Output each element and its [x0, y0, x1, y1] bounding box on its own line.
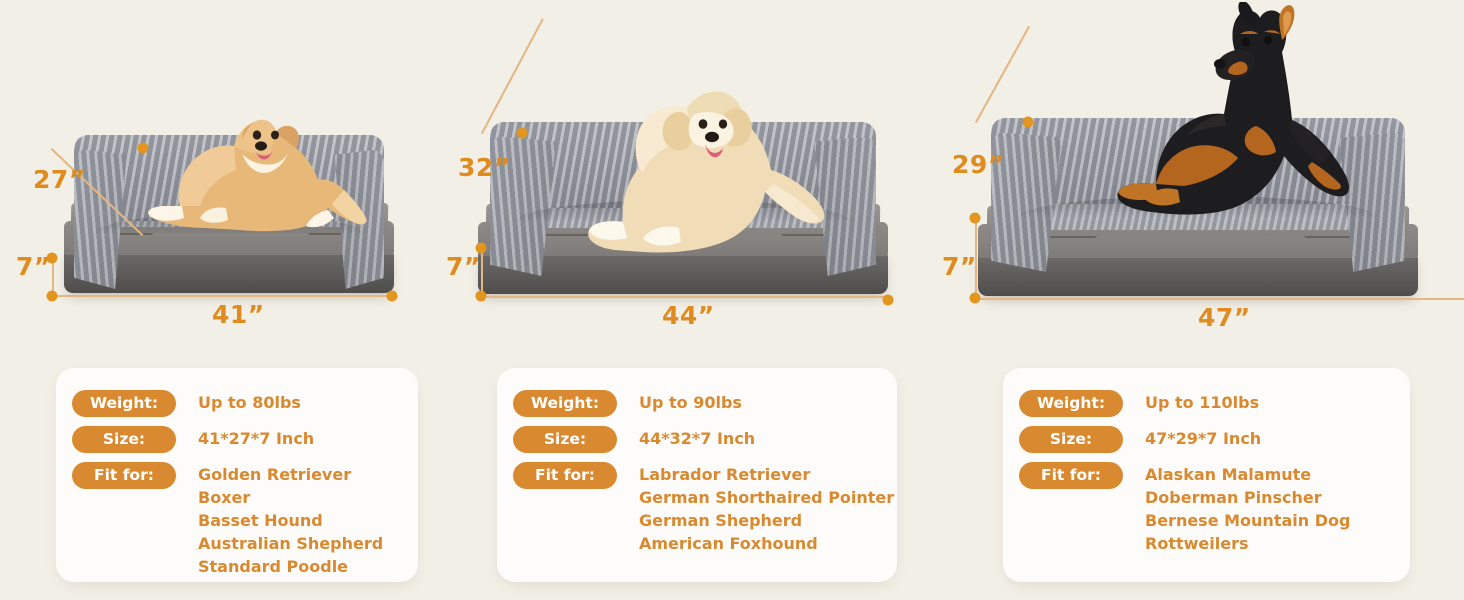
spec-row-size: Size: 41*27*7 Inch — [72, 426, 402, 453]
fitfor-pill-label: Fit for: — [513, 462, 617, 489]
guide-horizontal-width-large — [975, 298, 1464, 300]
breed-item: Standard Poodle — [198, 555, 383, 578]
dimension-height-medium: 32” — [458, 153, 511, 182]
guide-vertical-depth-medium — [481, 248, 483, 296]
size-chart-stage: 27” 7” 41” — [0, 0, 1464, 600]
dimension-depth-small: 7” — [16, 252, 51, 281]
dimension-depth-large: 7” — [942, 252, 977, 281]
guide-dot-top-small — [138, 143, 149, 154]
breed-list: Golden Retriever Boxer Basset Hound Aust… — [198, 462, 383, 578]
spec-row-fitfor: Fit for: Labrador Retriever German Short… — [513, 462, 881, 555]
guide-dot-right-medium — [883, 295, 894, 306]
size-value: 41*27*7 Inch — [198, 426, 314, 448]
guide-dot-bottom-small — [47, 291, 58, 302]
dimension-width-large: 47” — [1198, 303, 1251, 332]
spec-row-weight: Weight: Up to 80lbs — [72, 390, 402, 417]
guide-diagonal-height-large — [975, 26, 1030, 123]
spec-row-size: Size: 44*32*7 Inch — [513, 426, 881, 453]
weight-value: Up to 80lbs — [198, 390, 301, 412]
spec-row-weight: Weight: Up to 90lbs — [513, 390, 881, 417]
breed-item: German Shepherd — [639, 509, 894, 532]
spec-row-fitfor: Fit for: Alaskan Malamute Doberman Pinsc… — [1019, 462, 1394, 555]
spec-card-medium: Weight: Up to 90lbs Size: 44*32*7 Inch F… — [497, 368, 897, 582]
breed-item: Australian Shepherd — [198, 532, 383, 555]
guide-dot-top-large — [1023, 117, 1034, 128]
breed-item: Labrador Retriever — [639, 463, 894, 486]
guide-dot-bottom-large — [970, 293, 981, 304]
guide-horizontal-width-small — [52, 295, 393, 297]
guide-dot-bottom-medium — [476, 291, 487, 302]
dimension-height-small: 27” — [33, 165, 86, 194]
spec-row-weight: Weight: Up to 110lbs — [1019, 390, 1394, 417]
guide-dot-right-small — [387, 291, 398, 302]
dimension-depth-medium: 7” — [446, 252, 481, 281]
weight-pill-label: Weight: — [513, 390, 617, 417]
dimension-width-medium: 44” — [662, 301, 715, 330]
spec-card-small: Weight: Up to 80lbs Size: 41*27*7 Inch F… — [56, 368, 418, 582]
breed-list: Labrador Retriever German Shorthaired Po… — [639, 462, 894, 555]
product-group-large: 29” 7” 47” — [940, 0, 1464, 340]
spec-row-fitfor: Fit for: Golden Retriever Boxer Basset H… — [72, 462, 402, 578]
fitfor-pill-label: Fit for: — [1019, 462, 1123, 489]
breed-item: Golden Retriever — [198, 463, 383, 486]
product-group-medium: 32” 7” 44” — [440, 0, 940, 340]
guide-dot-top-medium — [517, 128, 528, 139]
weight-value: Up to 90lbs — [639, 390, 742, 412]
product-group-small: 27” 7” 41” — [0, 0, 470, 340]
size-value: 44*32*7 Inch — [639, 426, 755, 448]
breed-item: Basset Hound — [198, 509, 383, 532]
breed-item: Rottweilers — [1145, 532, 1350, 555]
breed-item: Doberman Pinscher — [1145, 486, 1350, 509]
guide-dot-mid-large — [970, 213, 981, 224]
size-pill-label: Size: — [72, 426, 176, 453]
spec-card-large: Weight: Up to 110lbs Size: 47*29*7 Inch … — [1003, 368, 1410, 582]
dog-photo-golden-retriever — [555, 78, 830, 258]
dimension-height-large: 29” — [952, 150, 1005, 179]
breed-item: American Foxhound — [639, 532, 894, 555]
guide-horizontal-width-medium — [481, 296, 889, 298]
weight-value: Up to 110lbs — [1145, 390, 1259, 412]
guide-diagonal-height-medium — [481, 18, 543, 134]
breed-list: Alaskan Malamute Doberman Pinscher Berne… — [1145, 462, 1350, 555]
size-pill-label: Size: — [1019, 426, 1123, 453]
fitfor-pill-label: Fit for: — [72, 462, 176, 489]
dog-photo-doberman-pinscher — [1060, 2, 1370, 232]
weight-pill-label: Weight: — [72, 390, 176, 417]
breed-item: German Shorthaired Pointer — [639, 486, 894, 509]
breed-item: Boxer — [198, 486, 383, 509]
weight-pill-label: Weight: — [1019, 390, 1123, 417]
dog-photo-golden-retriever — [110, 110, 370, 235]
size-pill-label: Size: — [513, 426, 617, 453]
dimension-width-small: 41” — [212, 300, 265, 329]
breed-item: Alaskan Malamute — [1145, 463, 1350, 486]
breed-item: Bernese Mountain Dog — [1145, 509, 1350, 532]
size-value: 47*29*7 Inch — [1145, 426, 1261, 448]
spec-row-size: Size: 47*29*7 Inch — [1019, 426, 1394, 453]
